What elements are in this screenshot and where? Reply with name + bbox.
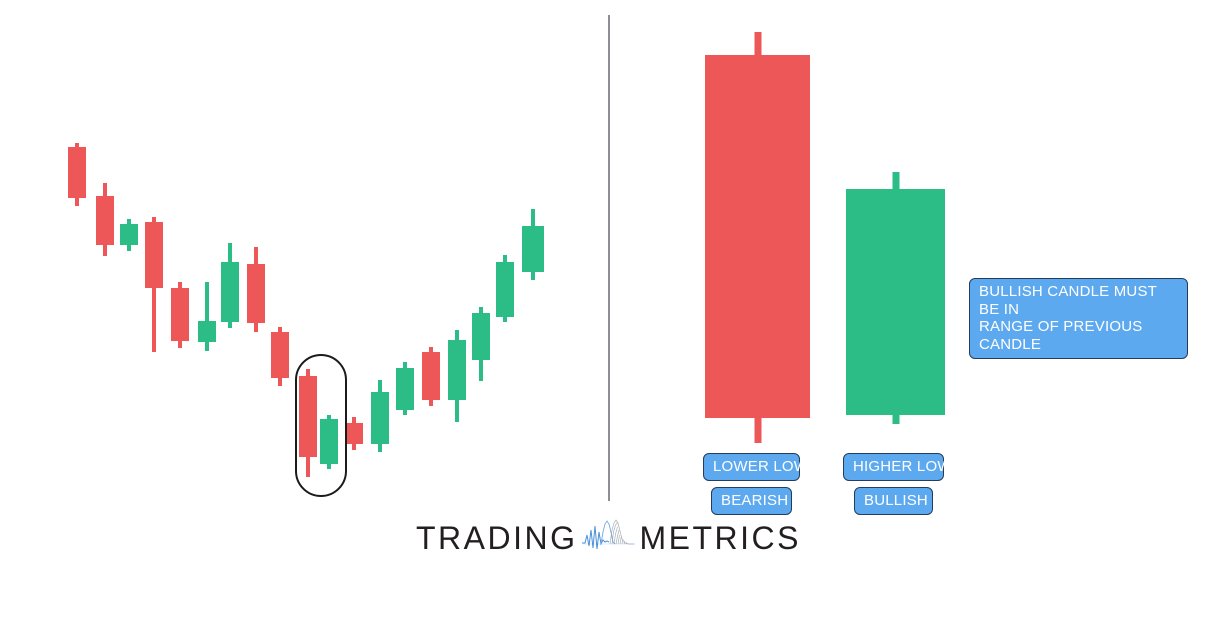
badge-range-note-line2: RANGE OF PREVIOUS CANDLE bbox=[979, 318, 1142, 353]
candle-body bbox=[120, 224, 138, 245]
candle-8-down bbox=[247, 247, 265, 332]
badge-lower-low: LOWER LOW bbox=[703, 453, 800, 481]
candle-5-down bbox=[171, 282, 189, 348]
candle-body bbox=[705, 55, 810, 418]
candle-body bbox=[171, 288, 189, 341]
candle-body bbox=[271, 332, 289, 378]
bullish-inside-candle bbox=[846, 172, 945, 424]
candle-body bbox=[68, 147, 86, 198]
candle-body bbox=[396, 368, 414, 410]
candle-2-down bbox=[96, 183, 114, 256]
badge-range-note-line1: BULLISH CANDLE MUST BE IN bbox=[979, 283, 1157, 318]
candle-body bbox=[371, 392, 389, 444]
brand-word-right: METRICS bbox=[640, 520, 802, 557]
candle-15-down bbox=[422, 347, 440, 406]
candle-6-up bbox=[198, 282, 216, 351]
candle-body bbox=[221, 262, 239, 322]
candle-13-up bbox=[371, 380, 389, 452]
candle-3-up bbox=[120, 219, 138, 251]
candle-9-down bbox=[271, 327, 289, 386]
bearish-reference-candle bbox=[705, 32, 810, 443]
candle-body bbox=[96, 196, 114, 245]
bullish-harami-highlight bbox=[295, 354, 347, 497]
pattern-infographic: LOWER LOWBEARISHHIGHER LOWBULLISH BULLIS… bbox=[0, 0, 1217, 619]
candle-body bbox=[472, 313, 490, 360]
candle-4-down bbox=[145, 217, 163, 352]
candle-body bbox=[846, 189, 945, 415]
candle-body bbox=[345, 423, 363, 444]
badge-range-note: BULLISH CANDLE MUST BE IN RANGE OF PREVI… bbox=[969, 278, 1188, 359]
candle-12-down bbox=[345, 417, 363, 450]
candle-14-up bbox=[396, 362, 414, 415]
candle-body bbox=[496, 262, 514, 317]
candle-16-up bbox=[448, 330, 466, 422]
badge-bullish: BULLISH bbox=[854, 487, 933, 515]
candle-body bbox=[522, 226, 544, 272]
candle-body bbox=[422, 352, 440, 400]
badge-higher-low: HIGHER LOW bbox=[843, 453, 944, 481]
candle-18-up bbox=[496, 255, 514, 322]
candle-7-up bbox=[221, 243, 239, 328]
brand-word-left: TRADING bbox=[416, 520, 578, 557]
candle-body bbox=[448, 340, 466, 400]
candle-body bbox=[145, 222, 163, 288]
candle-1-down bbox=[68, 143, 86, 206]
candle-body bbox=[247, 264, 265, 323]
badge-bearish: BEARISH bbox=[711, 487, 792, 515]
candle-19-up bbox=[522, 209, 544, 280]
brand-logo: TRADING METRICS bbox=[0, 518, 1217, 558]
candle-body bbox=[198, 321, 216, 342]
signal-wave-mark bbox=[580, 518, 638, 558]
candle-17-up bbox=[472, 307, 490, 381]
